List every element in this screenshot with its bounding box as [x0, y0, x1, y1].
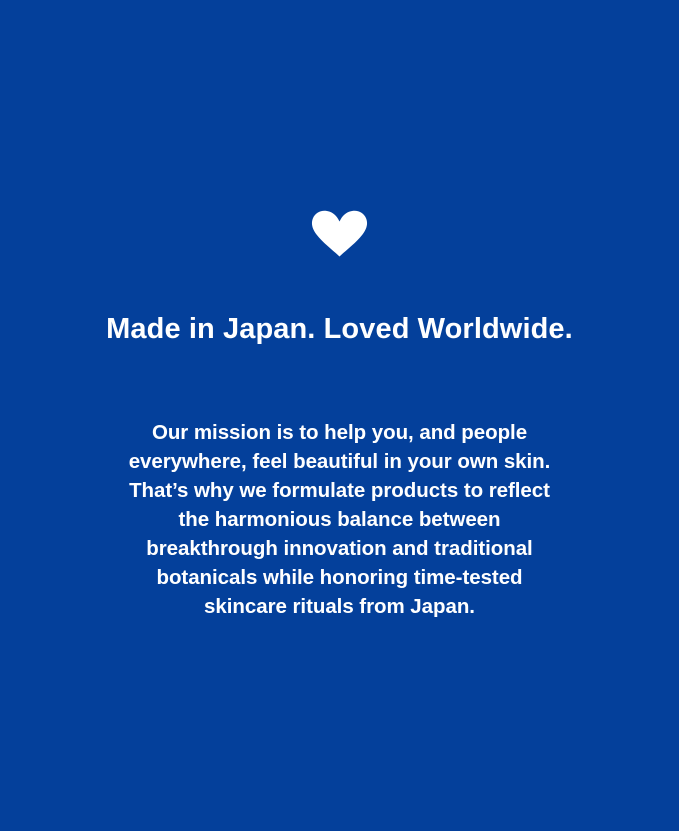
page-title: Made in Japan. Loved Worldwide.: [0, 310, 679, 348]
heart-icon: [311, 210, 368, 257]
mission-panel: Made in Japan. Loved Worldwide. Our miss…: [0, 0, 679, 831]
heart-icon-container: [0, 210, 679, 257]
mission-statement-text: Our mission is to help you, and people e…: [128, 418, 552, 621]
mission-statement-container: Our mission is to help you, and people e…: [128, 418, 552, 621]
